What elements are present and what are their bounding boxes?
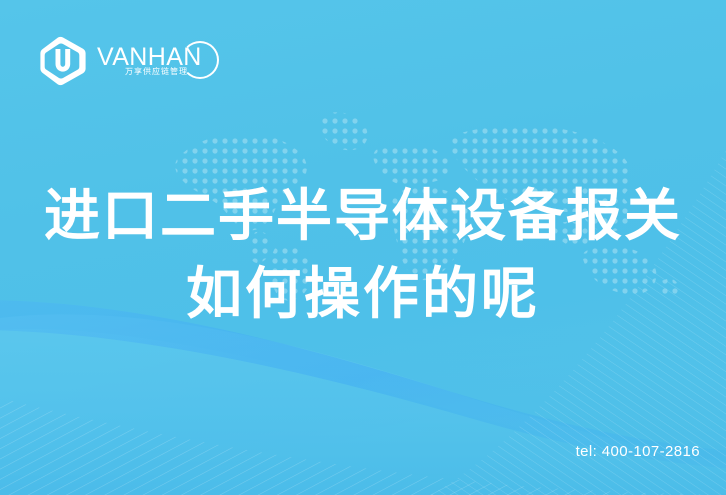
brand-subtitle-text: 万享供应链管理: [125, 68, 188, 76]
headline-line-1: 进口二手半导体设备报关: [0, 178, 726, 256]
promo-banner: VANHAN 万享供应链管理 进口二手半导体设备报关 如何操作的呢 tel: 4…: [0, 0, 726, 495]
contact-phone: tel: 400-107-2816: [576, 443, 700, 460]
headline-line-2: 如何操作的呢: [0, 256, 726, 334]
brand-wordmark: VANHAN 万享供应链管理: [97, 37, 219, 85]
hexagon-v-mark-icon: [38, 35, 88, 87]
diagonal-hatch-texture: [0, 380, 726, 495]
brand-logo[interactable]: VANHAN 万享供应链管理: [38, 33, 228, 89]
page-title: 进口二手半导体设备报关 如何操作的呢: [0, 178, 726, 334]
